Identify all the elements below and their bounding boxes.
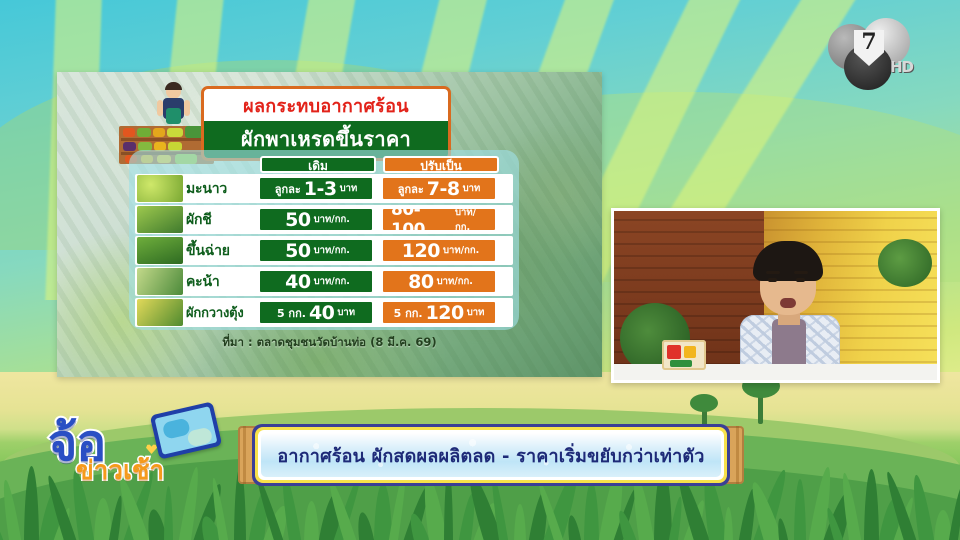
price-cell-old: 50บาท/กก. bbox=[258, 238, 374, 263]
lime-thumbnail bbox=[137, 175, 183, 202]
price-value: 7-8 bbox=[424, 178, 463, 200]
price-value: 120 bbox=[399, 240, 443, 262]
price-value: 50 bbox=[282, 209, 313, 231]
vegetable-name: มะนาว bbox=[186, 178, 258, 200]
price-cell-old: 40บาท/กก. bbox=[258, 269, 374, 294]
kale-thumbnail bbox=[137, 268, 183, 295]
price-value: 40 bbox=[282, 271, 313, 293]
banner-headline: อากาศร้อน ผักสดผลผลิตลด - ราคาเริ่มขยับก… bbox=[277, 441, 704, 470]
column-header-old: เดิม bbox=[260, 156, 376, 173]
table-header-row: เดิม ปรับเป็น bbox=[135, 154, 513, 174]
wall-slat bbox=[764, 229, 937, 231]
price-prefix: ลูกละ bbox=[398, 180, 424, 198]
price-prefix: 5 กก. bbox=[277, 304, 306, 322]
table-row: ผักกวางตุ้ง5 กก.40บาท5 กก.120บาท bbox=[135, 298, 513, 327]
price-value: 120 bbox=[423, 302, 467, 324]
price-unit: บาท bbox=[467, 305, 485, 320]
price-cell-old: 5 กก.40บาท bbox=[258, 300, 374, 325]
price-cell-new: ลูกละ7-8บาท bbox=[381, 176, 497, 201]
price-value: 50 bbox=[282, 240, 313, 262]
title-line-1: ผลกระทบอากาศร้อน bbox=[204, 89, 448, 121]
channel-number-text: 7 bbox=[861, 30, 876, 54]
price-table: เดิม ปรับเป็น มะนาวลูกละ1-3บาทลูกละ7-8บา… bbox=[129, 150, 519, 330]
price-unit: บาท/กก. bbox=[314, 212, 350, 227]
price-prefix: ลูกละ bbox=[275, 180, 301, 198]
price-infographic-panel: ผลกระทบอากาศร้อน ผักพาเหรดขึ้นราคา เดิม … bbox=[57, 72, 602, 377]
price-value: 40 bbox=[306, 302, 337, 324]
table-row: คะน้า40บาท/กก.80บาท/กก. bbox=[135, 267, 513, 296]
vegetable-name: คะน้า bbox=[186, 271, 258, 293]
show-logo: จ้อ ข่าวเช้า bbox=[42, 402, 237, 494]
news-ticker-banner: อากาศร้อน ผักสดผลผลิตลด - ราคาเริ่มขยับก… bbox=[238, 424, 744, 486]
price-cell-new: 80บาท/กก. bbox=[381, 269, 497, 294]
price-value: 1-3 bbox=[301, 178, 340, 200]
broadcast-screen: 7 HD bbox=[0, 0, 960, 540]
price-unit: บาท/กก. bbox=[437, 274, 473, 289]
show-logo-line-2: ข่าวเช้า bbox=[76, 450, 164, 491]
price-unit: บาท/กก. bbox=[455, 205, 490, 234]
vegetable-name: ผักกวางตุ้ง bbox=[186, 302, 258, 323]
choysum-thumbnail bbox=[137, 299, 183, 326]
price-cell-new: 120บาท/กก. bbox=[381, 238, 497, 263]
price-unit: บาท bbox=[340, 181, 358, 196]
price-cell-new: 80-100บาท/กก. bbox=[381, 207, 497, 232]
price-cell-new: 5 กก.120บาท bbox=[381, 300, 497, 325]
presenter-figure bbox=[736, 241, 846, 380]
wall-slat bbox=[614, 219, 764, 221]
vendor-figure-icon bbox=[157, 84, 191, 132]
studio-presenter-video bbox=[611, 208, 940, 383]
price-cell-old: 50บาท/กก. bbox=[258, 207, 374, 232]
price-prefix: 5 กก. bbox=[394, 304, 423, 322]
vegetable-name: ผักชี bbox=[186, 209, 258, 231]
price-unit: บาท/กก. bbox=[443, 243, 479, 258]
price-unit: บาท/กก. bbox=[314, 243, 350, 258]
coriander-thumbnail bbox=[137, 206, 183, 233]
price-value: 80 bbox=[405, 271, 436, 293]
source-note: ที่มา : ตลาดชุมชนวัดบ้านท่อ (8 มี.ค. 69) bbox=[57, 334, 602, 352]
table-row: ขึ้นฉ่าย50บาท/กก.120บาท/กก. bbox=[135, 236, 513, 265]
table-row: ผักชี50บาท/กก.80-100บาท/กก. bbox=[135, 205, 513, 234]
vegetable-name: ขึ้นฉ่าย bbox=[186, 240, 258, 262]
price-value: 80-100 bbox=[388, 205, 455, 234]
table-row: มะนาวลูกละ1-3บาทลูกละ7-8บาท bbox=[135, 174, 513, 203]
celery-thumbnail bbox=[137, 237, 183, 264]
channel7-logo-icon: 7 HD bbox=[828, 18, 938, 90]
column-header-new: ปรับเป็น bbox=[383, 156, 499, 173]
price-unit: บาท/กก. bbox=[314, 274, 350, 289]
hd-badge: HD bbox=[890, 58, 913, 76]
product-box bbox=[662, 340, 706, 370]
price-unit: บาท bbox=[463, 181, 481, 196]
wall-slat bbox=[614, 231, 764, 233]
price-cell-old: ลูกละ1-3บาท bbox=[258, 176, 374, 201]
price-unit: บาท bbox=[337, 305, 355, 320]
wall-slat bbox=[764, 217, 937, 219]
